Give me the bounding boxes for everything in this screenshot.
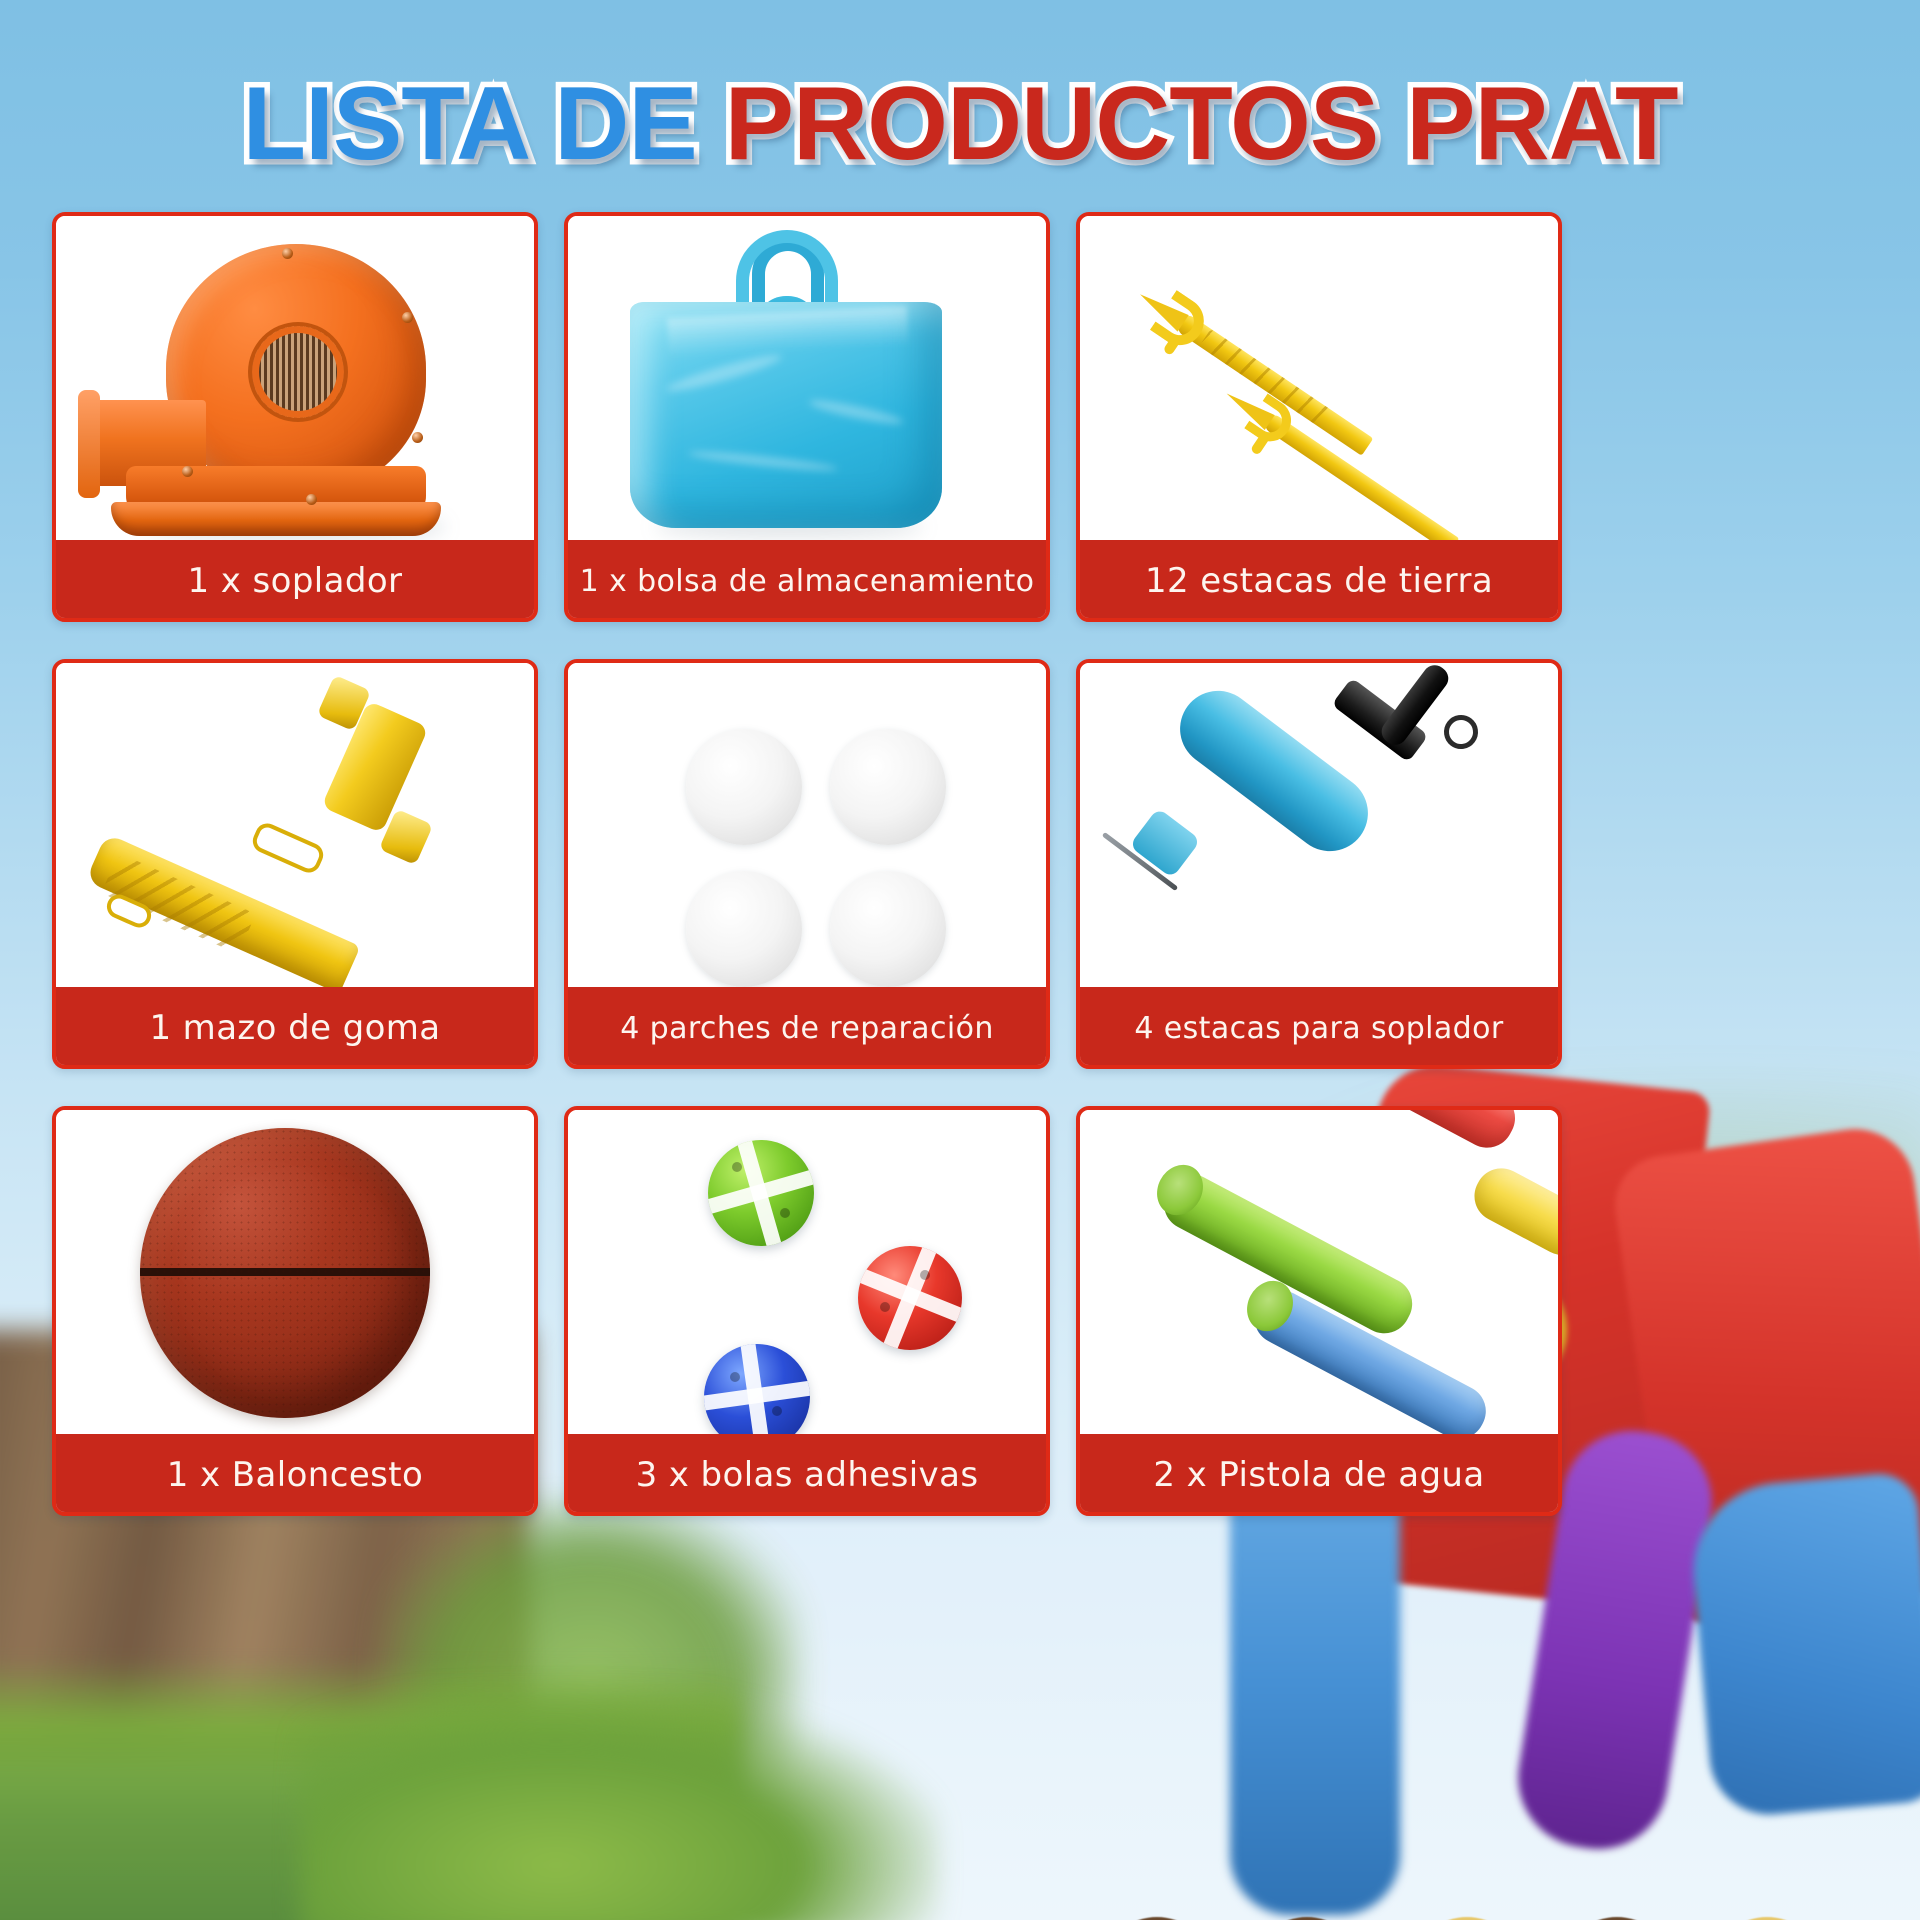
product-card-sticky-balls[interactable]: 3 x bolas adhesivas [564, 1106, 1050, 1516]
storage-bag-icon [568, 216, 1046, 540]
page-title: LISTA DE PRODUCTOS PRAT [0, 68, 1920, 180]
background-grass-2 [300, 1690, 940, 1920]
water-gun-icon [1080, 1110, 1558, 1434]
blower-stakes-icon [1080, 663, 1558, 987]
basketball-icon [56, 1110, 534, 1434]
product-card-blower-stakes[interactable]: 4 estacas para soplador [1076, 659, 1562, 1069]
product-image-sticky-balls [568, 1110, 1046, 1434]
product-label-bar: 2 x Pistola de agua [1076, 1434, 1562, 1516]
product-label-bar: 1 mazo de goma [52, 987, 538, 1069]
product-image-blower [56, 216, 534, 540]
product-label: 1 x Baloncesto [157, 1455, 433, 1495]
product-label-bar: 1 x bolsa de almacenamiento [564, 540, 1050, 622]
background-kids-photo [1080, 1745, 1920, 1920]
blower-icon [56, 216, 534, 540]
product-label: 1 x bolsa de almacenamiento [570, 564, 1045, 599]
product-label: 12 estacas de tierra [1135, 561, 1503, 601]
product-label-bar: 1 x Baloncesto [52, 1434, 538, 1516]
product-label: 4 estacas para soplador [1124, 1011, 1513, 1046]
product-label-bar: 3 x bolas adhesivas [564, 1434, 1050, 1516]
product-image-storage-bag [568, 216, 1046, 540]
product-card-storage-bag[interactable]: 1 x bolsa de almacenamiento [564, 212, 1050, 622]
product-label-bar: 12 estacas de tierra [1076, 540, 1562, 622]
ground-stakes-icon [1080, 216, 1558, 540]
product-label: 2 x Pistola de agua [1143, 1455, 1494, 1495]
sticky-balls-icon [568, 1110, 1046, 1434]
product-label-bar: 4 parches de reparación [564, 987, 1050, 1069]
rubber-mallet-icon [56, 663, 534, 987]
product-label: 1 mazo de goma [139, 1008, 450, 1048]
product-card-water-gun[interactable]: 2 x Pistola de agua [1076, 1106, 1562, 1516]
product-image-repair-patches [568, 663, 1046, 987]
product-image-ground-stakes [1080, 216, 1558, 540]
background-grass [0, 1660, 740, 1920]
title-part-blue: LISTA DE [243, 66, 725, 182]
product-image-water-gun [1080, 1110, 1558, 1434]
product-card-rubber-mallet[interactable]: 1 mazo de goma [52, 659, 538, 1069]
product-card-blower[interactable]: 1 x soplador [52, 212, 538, 622]
product-grid: 1 x soplador 1 x bolsa de almac [52, 212, 1868, 1517]
title-part-red: PRODUCTOS PRAT [725, 66, 1678, 182]
background-bush [380, 1500, 800, 1800]
infographic-canvas: LISTA DE PRODUCTOS PRAT [0, 0, 1920, 1920]
repair-patches-icon [568, 663, 1046, 987]
product-label-bar: 1 x soplador [52, 540, 538, 622]
product-card-ground-stakes[interactable]: 12 estacas de tierra [1076, 212, 1562, 622]
product-label: 3 x bolas adhesivas [626, 1455, 989, 1495]
product-image-blower-stakes [1080, 663, 1558, 987]
product-image-rubber-mallet [56, 663, 534, 987]
product-card-repair-patches[interactable]: 4 parches de reparación [564, 659, 1050, 1069]
product-label: 4 parches de reparación [610, 1011, 1004, 1046]
product-label-bar: 4 estacas para soplador [1076, 987, 1562, 1069]
product-label: 1 x soplador [178, 561, 413, 601]
product-image-basketball [56, 1110, 534, 1434]
product-card-basketball[interactable]: 1 x Baloncesto [52, 1106, 538, 1516]
